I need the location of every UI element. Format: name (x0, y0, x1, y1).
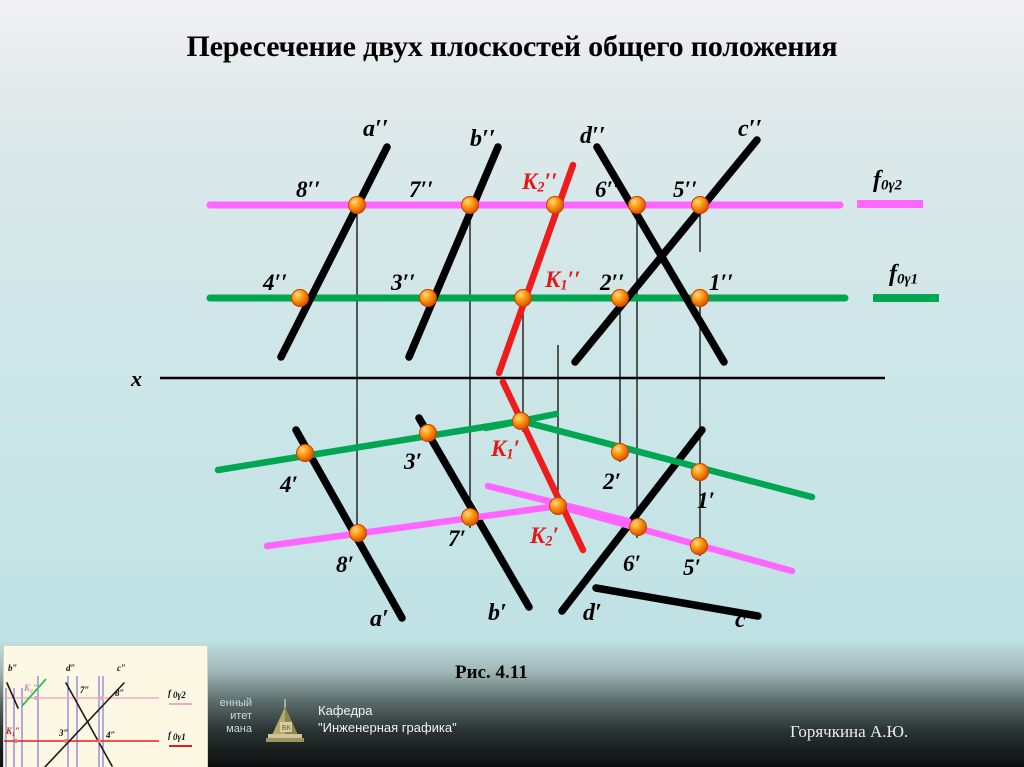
slide-root: Пересечение двух плоскостей общего полож… (0, 0, 1024, 767)
svg-text:БК: БК (282, 725, 292, 732)
legend-label-f0g1: f0γ1 (889, 262, 918, 288)
label-point-6-frontal: 6′′ (595, 178, 619, 201)
label-b-frontal: b′′ (470, 127, 496, 151)
label-point-6-horizontal: 6′ (623, 552, 641, 575)
label-point-2-horizontal: 2′ (603, 470, 621, 493)
label-point-2-frontal: 2′′ (600, 271, 624, 294)
label-c-horizontal: c′ (735, 608, 752, 632)
svg-text:3″: 3″ (58, 728, 69, 738)
svg-text:4″: 4″ (105, 730, 116, 740)
drawing-canvas (0, 0, 1024, 660)
svg-text:d″: d″ (66, 663, 76, 673)
label-point-3-horizontal: 3′ (404, 450, 422, 473)
label-point-8-horizontal: 8′ (336, 553, 354, 576)
legend-swatch-f0g2 (857, 200, 923, 208)
label-K1-horizontal: K1′ (491, 437, 520, 462)
label-point-1-frontal: 1′′ (709, 271, 733, 294)
svg-text:0γ2: 0γ2 (173, 690, 186, 700)
axis-x-label: x (131, 368, 142, 390)
line-c2 (575, 140, 757, 362)
label-d-horizontal: d′ (583, 601, 602, 625)
svg-text:b″: b″ (8, 663, 18, 673)
slide-thumbnail[interactable]: b″ d″ c″ 7″ 8″ 3″ 4″ K₂″ K₁″ f 0γ2 f 0γ1 (3, 645, 208, 767)
label-point-8-frontal: 8′′ (296, 178, 320, 201)
frontal-projection-lines (281, 140, 757, 362)
svg-text:8″: 8″ (115, 688, 125, 698)
label-d-frontal: d′′ (580, 124, 606, 148)
legend-label-f0g2: f0γ2 (873, 168, 902, 194)
svg-text:K₂″: K₂″ (23, 683, 38, 693)
label-point-7-horizontal: 7′ (448, 527, 466, 550)
label-point-4-frontal: 4′′ (263, 271, 287, 294)
bmstu-logo-icon: БК (258, 698, 312, 746)
figure-caption: Рис. 4.11 (455, 662, 528, 684)
label-K2-frontal: K2′′ (522, 170, 557, 195)
label-point-5-horizontal: 5′ (683, 556, 701, 579)
label-a-frontal: a′′ (363, 117, 389, 141)
label-point-7-frontal: 7′′ (409, 178, 433, 201)
label-b-horizontal: b′ (488, 601, 507, 625)
line-cd (596, 588, 758, 616)
label-point-5-frontal: 5′′ (673, 178, 697, 201)
svg-text:K₁″: K₁″ (5, 726, 20, 736)
department-label: Кафедра "Инженерная графика" (318, 702, 457, 736)
label-c-frontal: c′′ (738, 117, 762, 141)
label-K1-frontal: K1′′ (545, 268, 580, 293)
label-point-4-horizontal: 4′ (280, 473, 298, 496)
author-name: Горячкина А.Ю. (790, 722, 908, 742)
label-a-horizontal: a′ (370, 607, 389, 631)
label-point-3-frontal: 3′′ (391, 271, 415, 294)
svg-text:7″: 7″ (80, 685, 90, 695)
legend-swatch-f0g1 (873, 294, 939, 302)
label-K2-horizontal: K2′ (530, 524, 559, 549)
label-point-1-horizontal: 1′ (697, 489, 715, 512)
svg-text:0γ1: 0γ1 (173, 732, 186, 742)
svg-text:c″: c″ (117, 663, 126, 673)
